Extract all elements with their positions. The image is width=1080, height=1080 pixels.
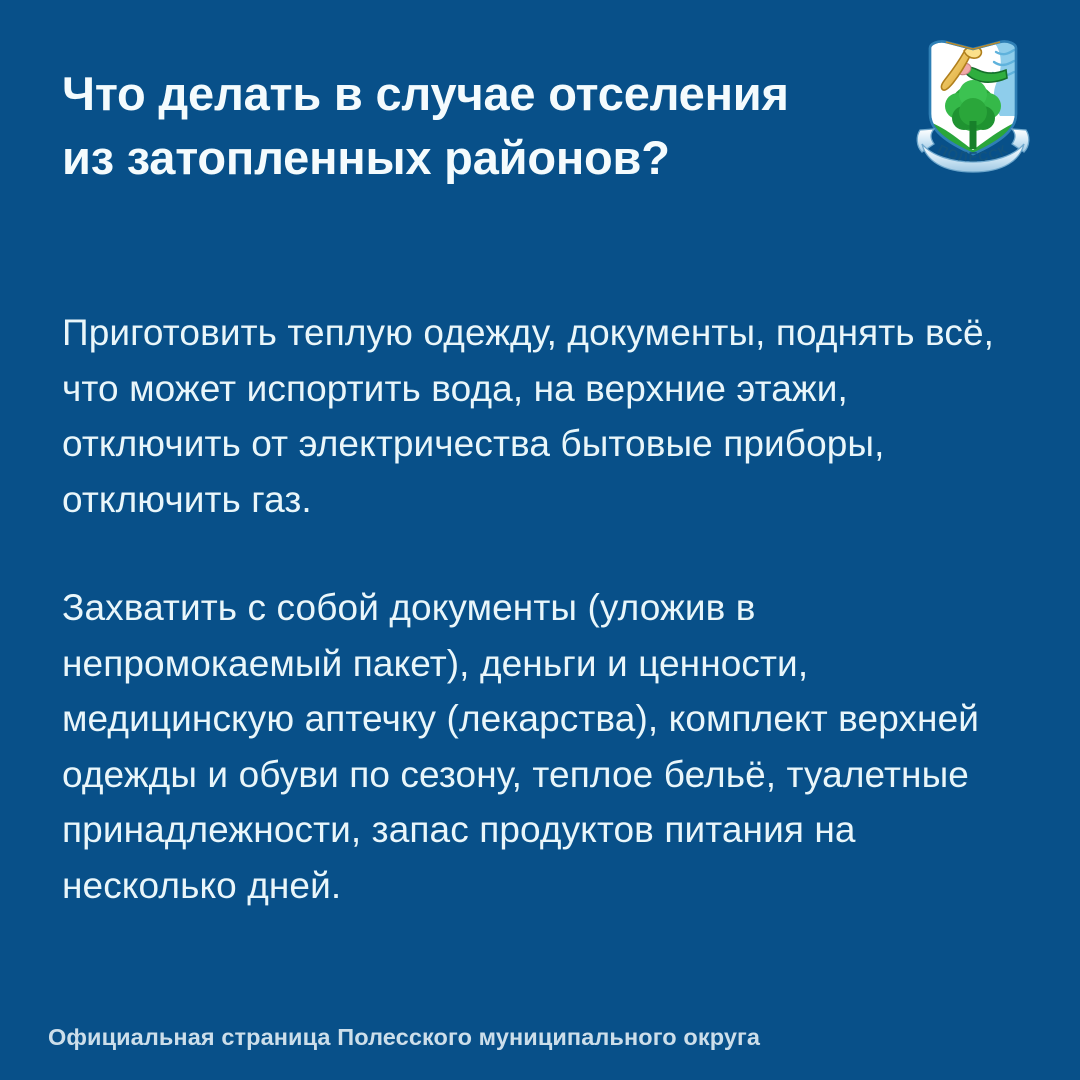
shield-icon <box>930 38 1020 158</box>
coat-of-arms-polessk: ПОЛЕССК <box>908 26 1038 176</box>
footer-attribution: Официальная страница Полесского муниципа… <box>48 1022 1032 1052</box>
body-copy: Приготовить теплую одежду, документы, по… <box>62 305 1022 913</box>
paragraph-2: Захватить с собой документы (уложив в не… <box>62 580 1022 913</box>
footer: Официальная страница Полесского муниципа… <box>48 1022 1032 1052</box>
info-card: ПОЛЕССК Что делать в случае отселения из… <box>0 0 1080 1080</box>
page-title: Что делать в случае отселения из затопле… <box>62 62 852 190</box>
paragraph-1: Приготовить теплую одежду, документы, по… <box>62 305 1022 527</box>
